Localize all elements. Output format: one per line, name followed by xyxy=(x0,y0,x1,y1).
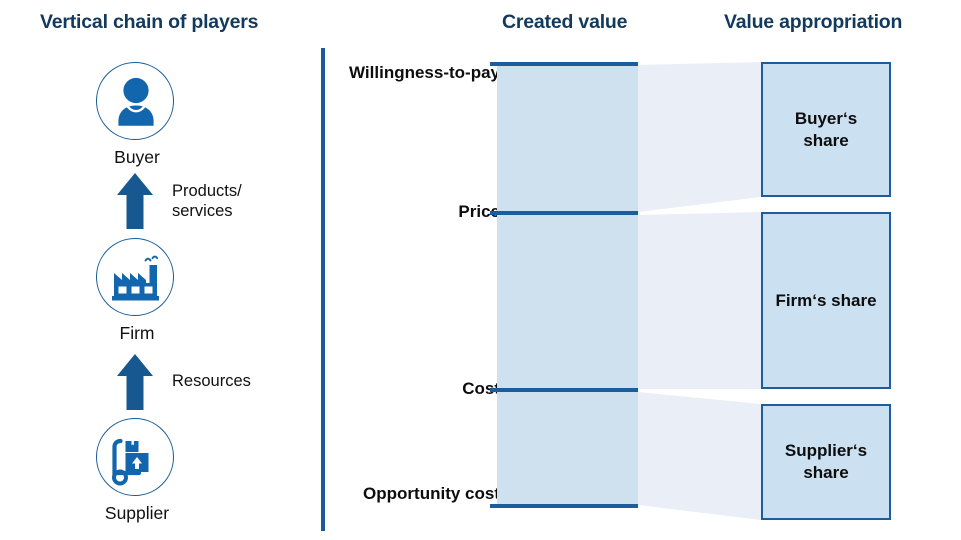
connector-shapes xyxy=(638,0,763,537)
created-value-band-supplier xyxy=(497,392,638,505)
connector-supplier xyxy=(638,392,761,520)
share-box-firm-text: Firm‘s share xyxy=(775,290,876,312)
share-box-supplier-line2: share xyxy=(785,462,867,484)
share-box-buyer-line2: share xyxy=(795,130,857,152)
connector-buyer xyxy=(638,62,761,212)
share-box-firm-line1: Firm‘s share xyxy=(775,290,876,312)
vertical-axis xyxy=(321,48,325,531)
level-label-opportunity-cost: Opportunity cost xyxy=(363,484,500,504)
rule-cost xyxy=(490,388,638,392)
share-box-buyer: Buyer‘s share xyxy=(761,62,891,197)
connector-firm xyxy=(638,212,761,389)
share-box-buyer-line1: Buyer‘s xyxy=(795,108,857,130)
share-box-buyer-text: Buyer‘s share xyxy=(795,108,857,152)
share-box-firm: Firm‘s share xyxy=(761,212,891,389)
share-box-supplier-text: Supplier‘s share xyxy=(785,440,867,484)
rule-willingness-to-pay xyxy=(490,62,638,66)
level-label-willingness-to-pay: Willingness-to-pay xyxy=(349,63,500,83)
rule-opportunity-cost xyxy=(490,504,638,508)
diagram-canvas: Vertical chain of players Created value … xyxy=(0,0,961,537)
created-value-band-firm xyxy=(497,215,638,389)
value-chart: Willingness-to-pay Price Cost Opportunit… xyxy=(0,0,961,537)
rule-price xyxy=(490,211,638,215)
share-box-supplier: Supplier‘s share xyxy=(761,404,891,520)
share-box-supplier-line1: Supplier‘s xyxy=(785,440,867,462)
created-value-band-buyer xyxy=(497,65,638,212)
